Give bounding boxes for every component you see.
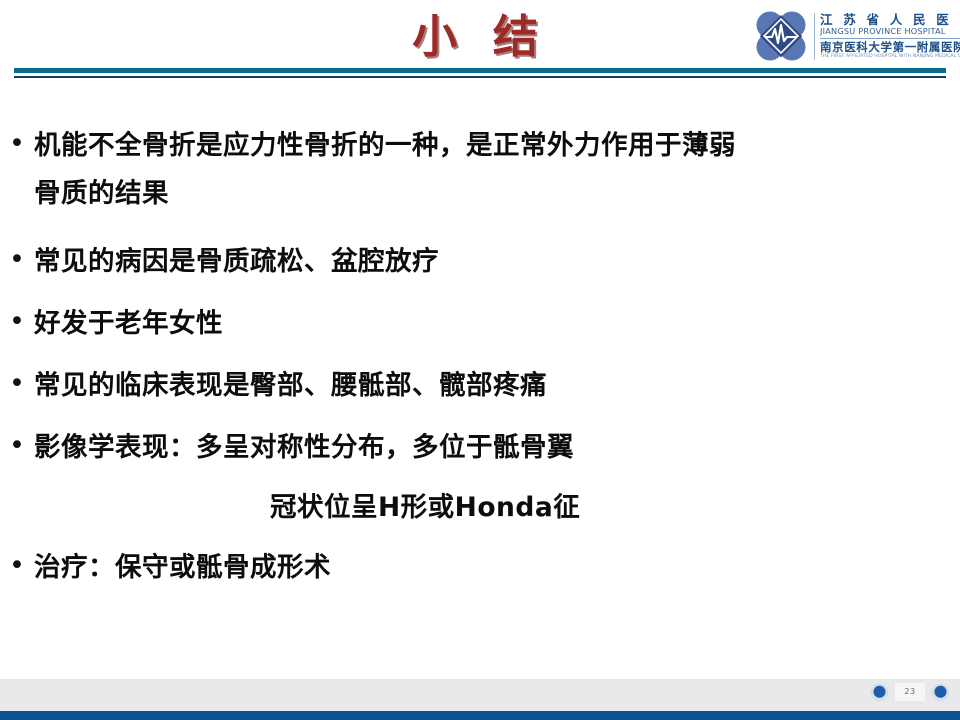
- previous-slide-dot[interactable]: [872, 685, 887, 700]
- list-item: • 治疗：保守或骶骨成形术: [0, 544, 960, 592]
- header-rule-thin: [14, 76, 946, 78]
- hospital-logo-text: 江 苏 省 人 民 医 院 JIANGSU PROVINCE HOSPITAL …: [814, 13, 960, 60]
- logo-divider: [820, 38, 960, 39]
- bullet-line: 常见的病因是骨质疏松、盆腔放疗: [34, 238, 439, 286]
- bullet-marker: •: [0, 122, 34, 166]
- list-item: • 好发于老年女性: [0, 300, 960, 348]
- slide-content: • 机能不全骨折是应力性骨折的一种，是正常外力作用于薄弱 骨质的结果 • 常见的…: [0, 92, 960, 652]
- logo-chinese-secondary: 南京医科大学第一附属医院: [820, 40, 960, 54]
- bullet-line: 机能不全骨折是应力性骨折的一种，是正常外力作用于薄弱: [34, 122, 736, 170]
- list-item: • 机能不全骨折是应力性骨折的一种，是正常外力作用于薄弱 骨质的结果: [0, 122, 960, 218]
- bullet-marker: •: [0, 544, 34, 588]
- next-slide-dot[interactable]: [933, 685, 948, 700]
- hospital-logo: 江 苏 省 人 民 医 院 JIANGSU PROVINCE HOSPITAL …: [752, 4, 954, 68]
- sub-line-text: 冠状位呈H形或Honda征: [270, 484, 960, 532]
- bullet-line: 常见的临床表现是臀部、腰骶部、髋部疼痛: [34, 362, 547, 410]
- logo-english-secondary: THE FIRST AFFILIATED HOSPITAL WITH NANJI…: [820, 54, 960, 60]
- slide-header: 小 结 江 苏 省 人 民 医 院 JIANGSU PROVINCE HOSPI…: [0, 0, 960, 78]
- footer-band: [0, 679, 960, 711]
- logo-chinese-primary: 江 苏 省 人 民 医 院: [820, 13, 960, 27]
- list-item: • 常见的病因是骨质疏松、盆腔放疗: [0, 238, 960, 286]
- page-number: 23: [895, 683, 925, 701]
- slide-navigation[interactable]: 23: [872, 683, 948, 701]
- logo-english-primary: JIANGSU PROVINCE HOSPITAL: [820, 27, 960, 37]
- sub-line-row: 冠状位呈H形或Honda征: [0, 484, 960, 532]
- header-rule-thick: [14, 68, 946, 73]
- footer-accent-bar: [0, 711, 960, 720]
- hospital-emblem-icon: [752, 7, 810, 65]
- bullet-marker: •: [0, 362, 34, 406]
- bullet-line: 影像学表现：多呈对称性分布，多位于骶骨翼: [34, 424, 574, 472]
- bullet-line: 好发于老年女性: [34, 300, 223, 348]
- bullet-marker: •: [0, 424, 34, 468]
- bullet-marker: •: [0, 238, 34, 282]
- bullet-line-wrapped: 骨质的结果: [34, 170, 736, 218]
- bullet-marker: •: [0, 300, 34, 344]
- presentation-slide: 小 结 江 苏 省 人 民 医 院 JIANGSU PROVINCE HOSPI…: [0, 0, 960, 720]
- bullet-line: 治疗：保守或骶骨成形术: [34, 544, 331, 592]
- list-item: • 影像学表现：多呈对称性分布，多位于骶骨翼: [0, 424, 960, 472]
- list-item: • 常见的临床表现是臀部、腰骶部、髋部疼痛: [0, 362, 960, 410]
